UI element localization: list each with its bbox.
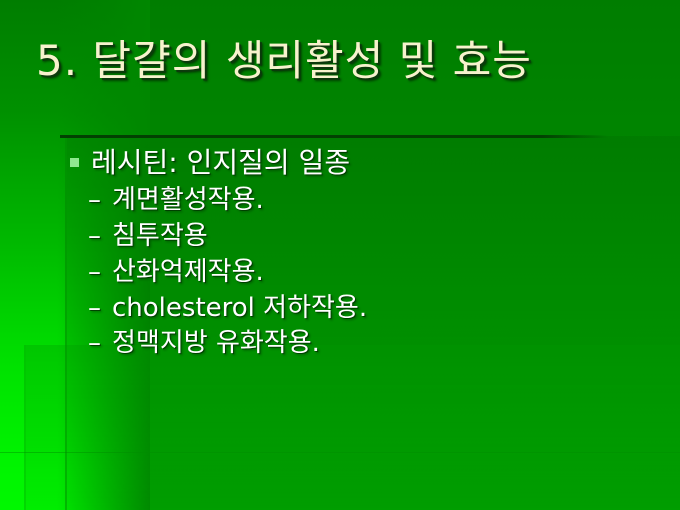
square-bullet-icon	[70, 158, 79, 167]
list-item-level2: – cholesterol 저하작용.	[88, 292, 650, 326]
lower-accent-rectangle	[24, 345, 680, 510]
dash-bullet-icon: –	[88, 184, 106, 218]
list-item-label: cholesterol 저하작용.	[112, 292, 367, 326]
list-item-label: 정맥지방 유화작용.	[112, 327, 320, 361]
list-item-level1: 레시틴: 인지질의 일종	[70, 146, 650, 180]
list-item-label: 산화억제작용.	[112, 256, 264, 290]
dash-bullet-icon: –	[88, 327, 106, 361]
title-divider-rule	[60, 135, 608, 138]
dash-bullet-icon: –	[88, 292, 106, 326]
list-item-level2: – 산화억제작용.	[88, 256, 650, 290]
list-item-label: 레시틴: 인지질의 일종	[91, 146, 350, 180]
list-item-level2: – 침투작용	[88, 220, 650, 254]
list-item-label: 계면활성작용.	[112, 184, 264, 218]
list-item-level2: – 정맥지방 유화작용.	[88, 327, 650, 361]
presentation-slide: 5. 달걀의 생리활성 및 효능 레시틴: 인지질의 일종 – 계면활성작용. …	[0, 0, 680, 510]
slide-title: 5. 달걀의 생리활성 및 효능	[36, 38, 636, 83]
list-item-level2: – 계면활성작용.	[88, 184, 650, 218]
slide-body-list: 레시틴: 인지질의 일종 – 계면활성작용. – 침투작용 – 산화억제작용. …	[70, 146, 650, 363]
list-item-label: 침투작용	[112, 220, 208, 254]
background-seam-divider	[0, 452, 680, 453]
dash-bullet-icon: –	[88, 220, 106, 254]
dash-bullet-icon: –	[88, 256, 106, 290]
